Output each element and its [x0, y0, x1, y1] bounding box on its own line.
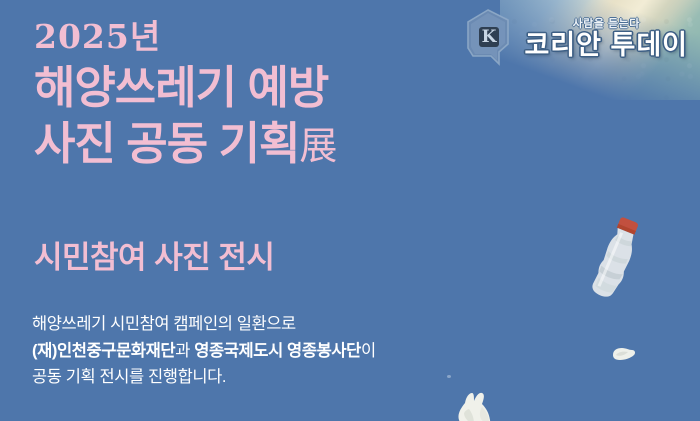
- headline-line-2: 사진 공동 기획展: [34, 116, 337, 172]
- headline-block: 2025년 해양쓰레기 예방 사진 공동 기획展: [34, 20, 337, 172]
- shield-k-icon: K: [461, 8, 515, 68]
- logo-tagline: 사람을 듣는다: [524, 15, 688, 31]
- body-line-1: 해양쓰레기 시민참여 캠페인의 일환으로: [32, 311, 376, 338]
- korean-today-logo[interactable]: K 사람을 듣는다 코리안 투데이: [461, 8, 688, 68]
- body-org-2: 영종국제도시 영종봉사단: [194, 342, 361, 360]
- white-plastic-fragment-small-icon: [610, 344, 636, 360]
- logo-wordmark: 사람을 듣는다 코리안 투데이: [524, 15, 688, 61]
- headline-line-2-hanja: 展: [299, 124, 337, 168]
- headline-line-1: 해양쓰레기 예방: [34, 60, 337, 116]
- body-particle: 이: [361, 342, 376, 360]
- white-plastic-fragment-large-icon: [455, 385, 501, 421]
- subtitle: 시민참여 사진 전시: [34, 232, 274, 277]
- body-copy: 해양쓰레기 시민참여 캠페인의 일환으로 (재)인천중구문화재단과 영종국제도시…: [32, 311, 376, 391]
- logo-name: 코리안 투데이: [524, 32, 688, 59]
- body-org-1: (재)인천중구문화재단: [32, 342, 175, 360]
- svg-text:K: K: [482, 27, 498, 47]
- poster-canvas: K 사람을 듣는다 코리안 투데이 2025년 해양쓰레기 예방 사진 공동 기…: [0, 0, 700, 421]
- headline-line-2-main: 사진 공동 기획: [34, 118, 299, 169]
- body-line-3: 공동 기획 전시를 진행합니다.: [32, 364, 376, 391]
- body-line-2: (재)인천중구문화재단과 영종국제도시 영종봉사단이: [32, 338, 376, 365]
- crushed-plastic-bottle-icon: [573, 205, 656, 307]
- debris-speck: [447, 375, 451, 378]
- headline-year: 2025년: [34, 20, 337, 55]
- body-conjunction: 과: [175, 342, 194, 360]
